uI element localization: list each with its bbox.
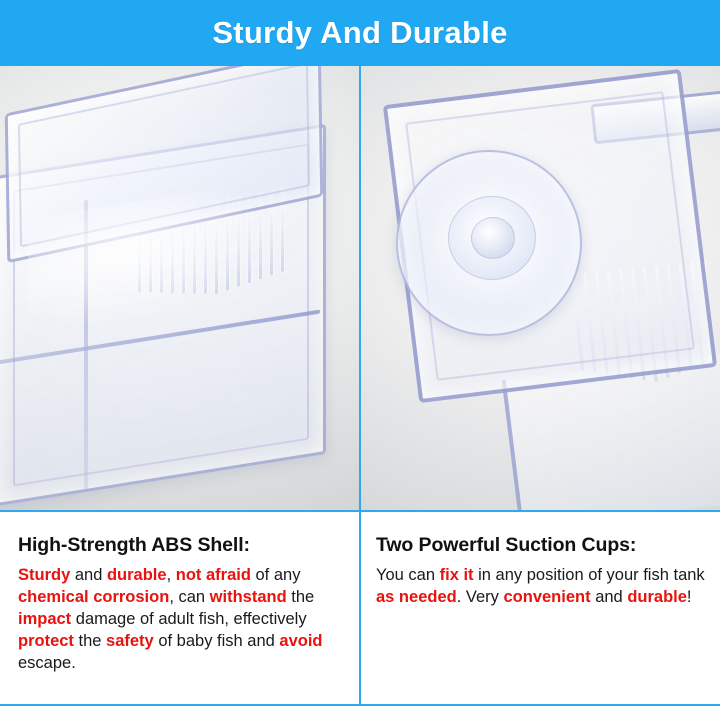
highlighted-text: durable [107, 566, 167, 584]
body-text: and [591, 588, 628, 606]
highlighted-text: durable [627, 588, 687, 606]
body-text: the [74, 632, 106, 650]
feature-panel-right: Two Powerful Suction Cups: You can fix i… [360, 512, 720, 704]
body-text: escape. [18, 654, 76, 672]
feature-body-left: Sturdy and durable, not afraid of any ch… [18, 565, 346, 675]
highlighted-text: safety [106, 632, 154, 650]
body-text: You can [376, 566, 440, 584]
body-text: ! [687, 588, 692, 606]
header-banner: Sturdy And Durable [0, 0, 720, 66]
highlighted-text: withstand [210, 588, 287, 606]
feature-body-right: You can fix it in any position of your f… [376, 565, 706, 609]
suction-cup [396, 150, 582, 336]
body-text: . Very [457, 588, 504, 606]
body-text: , [167, 566, 176, 584]
highlighted-text: convenient [504, 588, 591, 606]
suction-cup-dome [448, 196, 536, 280]
highlighted-text: Sturdy [18, 566, 70, 584]
feature-heading-left: High-Strength ABS Shell: [18, 534, 346, 557]
body-text: the [287, 588, 315, 606]
product-feature-infographic: Sturdy And Durable [0, 0, 720, 706]
body-text: , can [169, 588, 209, 606]
highlighted-text: as needed [376, 588, 457, 606]
banner-title: Sturdy And Durable [212, 15, 507, 51]
body-text: of any [251, 566, 301, 584]
highlighted-text: not afraid [176, 566, 251, 584]
highlighted-text: chemical corrosion [18, 588, 169, 606]
breeder-box-illustration [0, 80, 340, 500]
suction-cup-closeup-photo [360, 66, 720, 511]
highlighted-text: avoid [279, 632, 322, 650]
body-text: damage of adult fish, effectively [71, 610, 306, 628]
feature-panel-left: High-Strength ABS Shell: Sturdy and dura… [0, 512, 360, 704]
suction-cup-illustration [360, 66, 720, 511]
highlighted-text: fix it [440, 566, 474, 584]
feature-heading-right: Two Powerful Suction Cups: [376, 534, 706, 557]
highlighted-text: protect [18, 632, 74, 650]
suction-cup-center [471, 217, 515, 259]
acrylic-breeder-box-photo [0, 66, 360, 511]
body-text: of baby fish and [154, 632, 280, 650]
body-text: and [70, 566, 107, 584]
highlighted-text: impact [18, 610, 71, 628]
body-text: in any position of your fish tank [474, 566, 705, 584]
